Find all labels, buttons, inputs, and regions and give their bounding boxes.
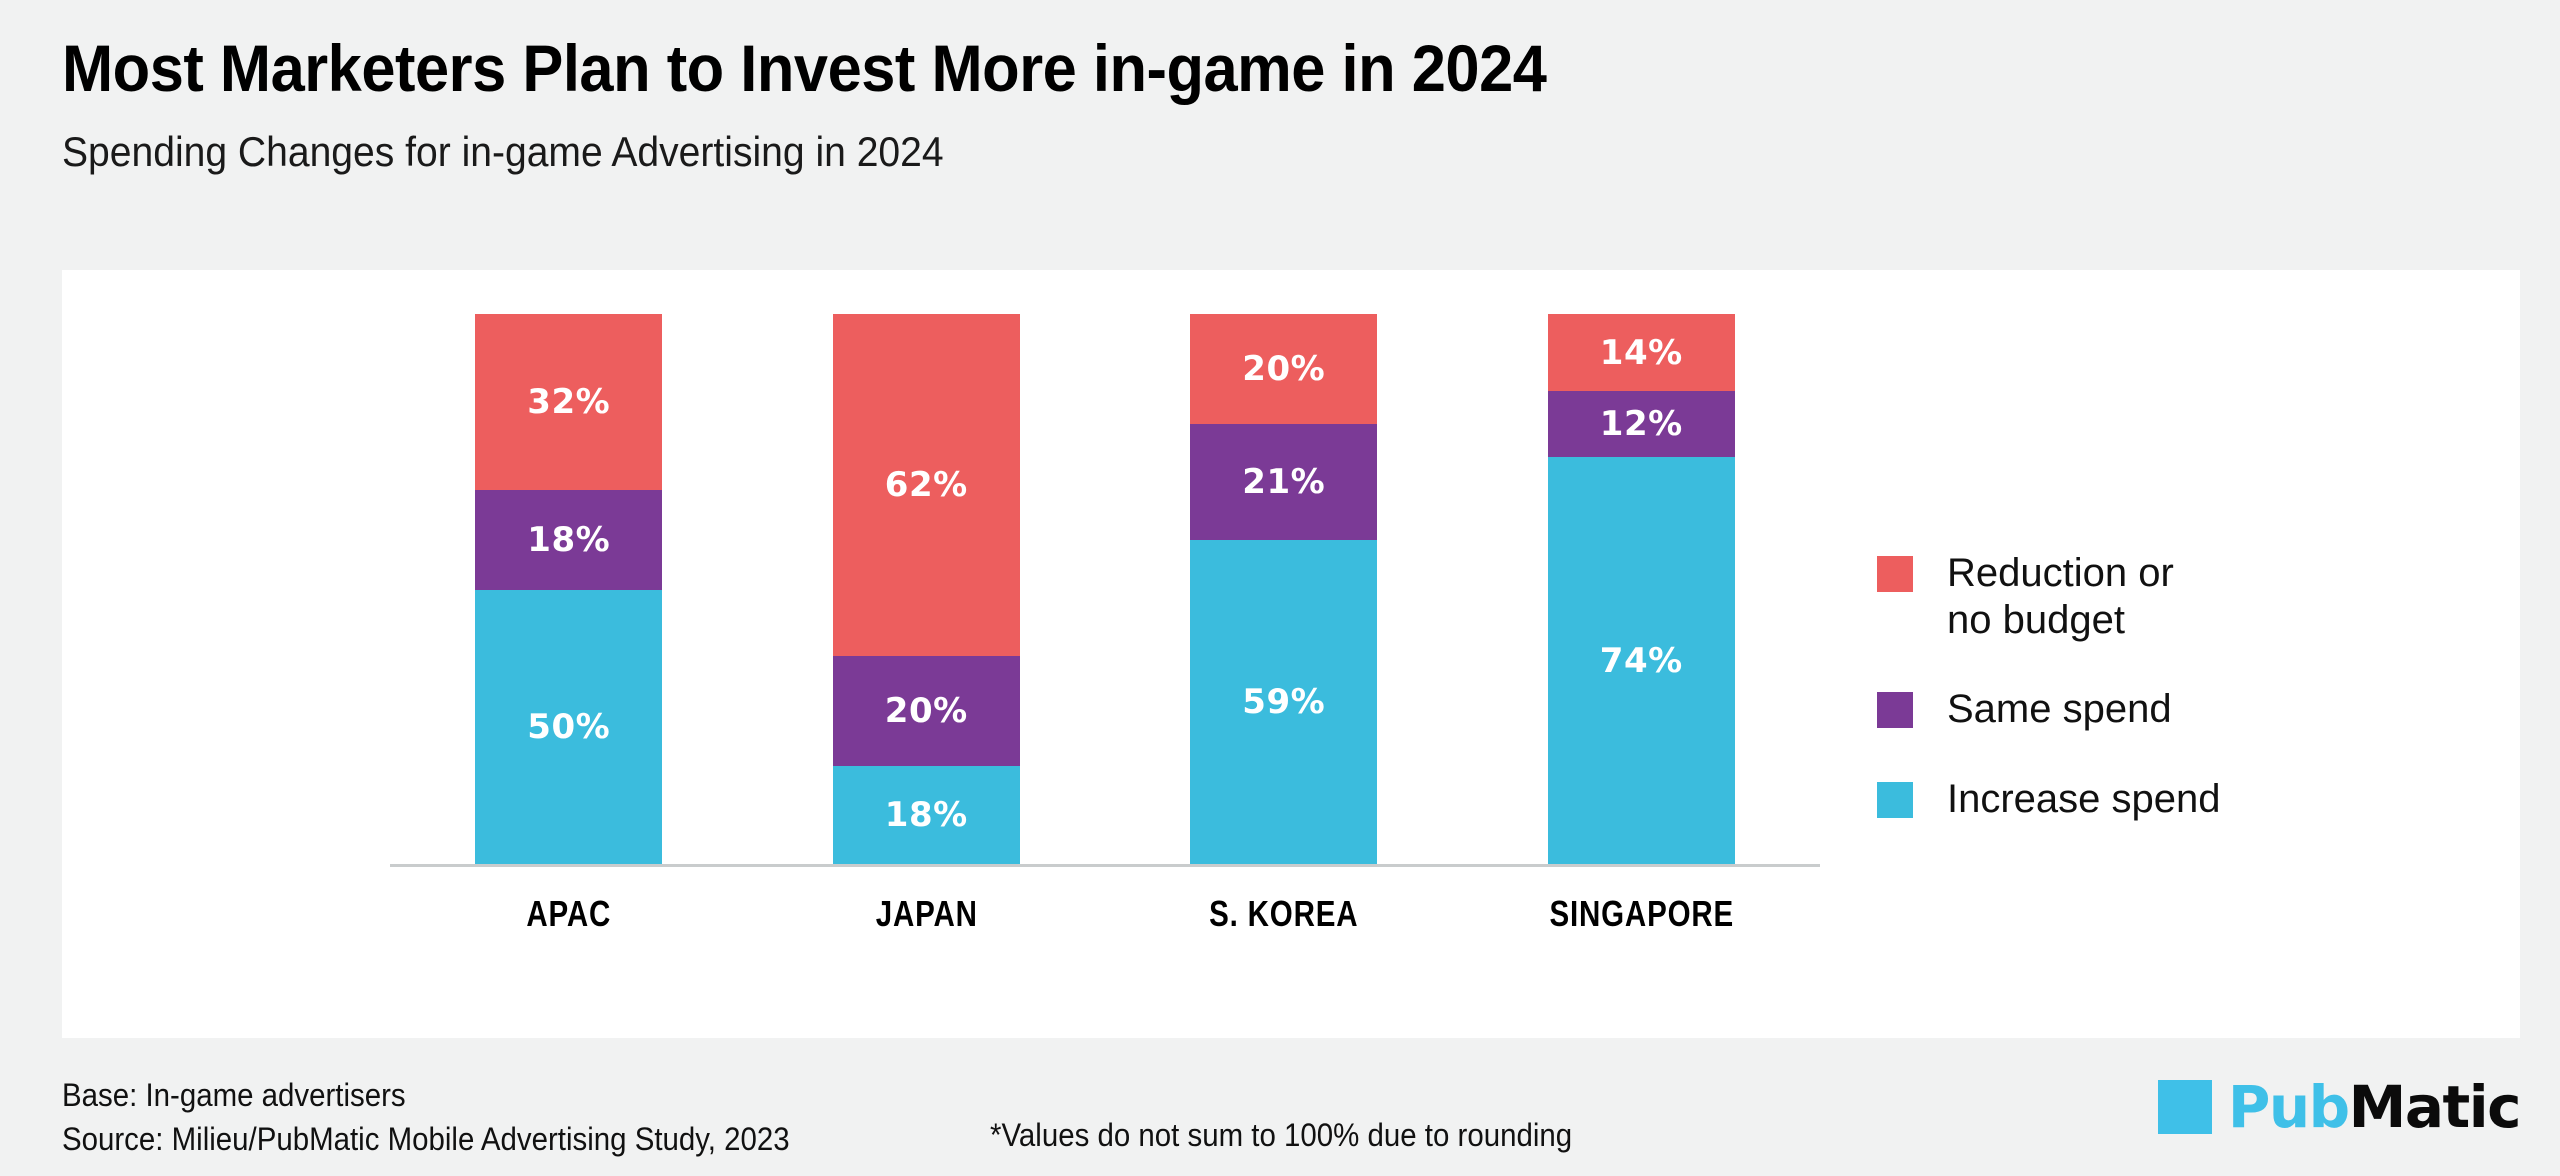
bar-value-label: 18% [527, 520, 610, 560]
legend-swatch-icon [1877, 692, 1913, 728]
footer-notes: Base: In-game advertisers Source: Milieu… [62, 1073, 790, 1161]
legend-label: Same spend [1947, 686, 2172, 733]
legend-swatch-icon [1877, 556, 1913, 592]
bar-group[interactable]: 62%20%18% [748, 314, 1106, 865]
bar-value-label: 18% [885, 795, 968, 835]
logo-matic-text: Matic [2349, 1073, 2520, 1141]
stacked-bar[interactable]: 32%18%50% [475, 314, 662, 865]
x-axis-label: SINGAPORE [1495, 893, 1788, 935]
bar-value-label: 74% [1600, 641, 1683, 681]
bar-value-label: 32% [527, 382, 610, 422]
bar-value-label: 59% [1242, 682, 1325, 722]
x-axis-label: APAC [422, 893, 715, 935]
page-title: Most Marketers Plan to Invest More in-ga… [62, 34, 2294, 103]
x-axis-tick-labels: APACJAPANS. KOREASINGAPORE [390, 893, 1820, 935]
bar-segment[interactable]: 74% [1548, 457, 1735, 865]
bar-value-label: 21% [1242, 462, 1325, 502]
legend-item-increase[interactable]: Increase spend [1877, 776, 2437, 823]
bar-value-label: 20% [885, 691, 968, 731]
footer-source-line: Source: Milieu/PubMatic Mobile Advertisi… [62, 1117, 790, 1161]
bar-segment[interactable]: 20% [833, 656, 1020, 766]
bar-segment[interactable]: 59% [1190, 540, 1377, 865]
bar-segment[interactable]: 21% [1190, 424, 1377, 540]
chart-legend: Reduction or no budgetSame spendIncrease… [1877, 550, 2437, 823]
chart-card: 32%18%50%62%20%18%20%21%59%14%12%74% APA… [62, 270, 2520, 1038]
legend-label: Reduction or no budget [1947, 550, 2174, 644]
bar-value-label: 50% [527, 707, 610, 747]
x-axis-line [390, 864, 1820, 867]
x-axis-label: JAPAN [780, 893, 1073, 935]
pubmatic-logo: PubMatic [2158, 1078, 2520, 1136]
bar-segment[interactable]: 18% [833, 766, 1020, 865]
bar-value-label: 12% [1600, 404, 1683, 444]
bar-segment[interactable]: 50% [475, 590, 662, 866]
x-axis-label: S. KOREA [1137, 893, 1430, 935]
chart-header: Most Marketers Plan to Invest More in-ga… [62, 34, 2462, 175]
footer-base-line: Base: In-game advertisers [62, 1073, 790, 1117]
bar-value-label: 20% [1242, 349, 1325, 389]
page-subtitle: Spending Changes for in-game Advertising… [62, 129, 2294, 175]
bar-segment[interactable]: 18% [475, 490, 662, 589]
legend-item-same[interactable]: Same spend [1877, 686, 2437, 733]
legend-swatch-icon [1877, 782, 1913, 818]
pubmatic-square-icon [2158, 1080, 2212, 1134]
plot-area: 32%18%50%62%20%18%20%21%59%14%12%74% APA… [390, 310, 1820, 905]
stacked-bar[interactable]: 20%21%59% [1190, 314, 1377, 865]
bar-value-label: 14% [1600, 333, 1683, 373]
bar-group[interactable]: 20%21%59% [1105, 314, 1463, 865]
pubmatic-wordmark: PubMatic [2228, 1078, 2520, 1136]
bar-segment[interactable]: 14% [1548, 314, 1735, 391]
bar-segment[interactable]: 62% [833, 314, 1020, 656]
bar-segment[interactable]: 20% [1190, 314, 1377, 424]
footer-rounding-note: *Values do not sum to 100% due to roundi… [990, 1117, 1572, 1154]
bar-value-label: 62% [885, 465, 968, 505]
stacked-bar[interactable]: 62%20%18% [833, 314, 1020, 865]
legend-item-reduction[interactable]: Reduction or no budget [1877, 550, 2437, 644]
bar-group[interactable]: 14%12%74% [1463, 314, 1821, 865]
stacked-bar[interactable]: 14%12%74% [1548, 314, 1735, 865]
bar-group[interactable]: 32%18%50% [390, 314, 748, 865]
bar-groups: 32%18%50%62%20%18%20%21%59%14%12%74% [390, 314, 1820, 865]
logo-pub-text: Pub [2228, 1073, 2349, 1141]
bar-segment[interactable]: 32% [475, 314, 662, 490]
bar-segment[interactable]: 12% [1548, 391, 1735, 457]
legend-label: Increase spend [1947, 776, 2221, 823]
